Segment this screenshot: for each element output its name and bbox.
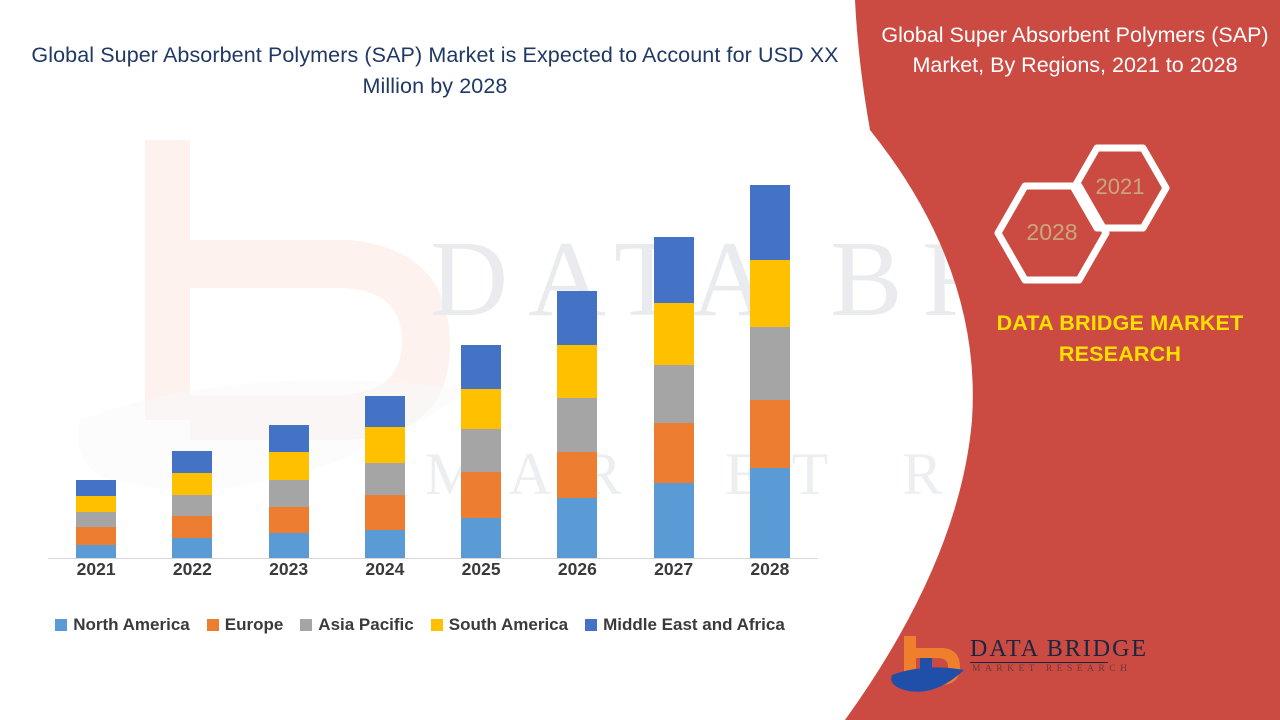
stacked-bar-series-container <box>48 150 818 559</box>
chart-legend: North AmericaEuropeAsia PacificSouth Ame… <box>0 615 840 635</box>
bar-segment <box>76 496 116 512</box>
bar-segment <box>557 345 597 398</box>
legend-swatch-icon <box>431 619 443 631</box>
legend-label: Europe <box>225 615 284 635</box>
logo-wordmark: DATA BRIDGE <box>970 636 1148 663</box>
legend-item-south-america[interactable]: South America <box>431 615 568 635</box>
bar-group-2023 <box>241 425 337 558</box>
hex-label-end-year: 2028 <box>1002 219 1102 246</box>
bar-segment <box>557 452 597 498</box>
legend-swatch-icon <box>585 619 597 631</box>
bar-segment <box>461 345 501 389</box>
stacked-bar <box>365 396 405 558</box>
bar-group-2024 <box>337 396 433 558</box>
bar-segment <box>654 365 694 423</box>
hexagon-pair: 2021 2028 <box>975 140 1205 290</box>
panel-title: Global Super Absorbent Polymers (SAP) Ma… <box>880 20 1270 80</box>
bar-segment <box>461 389 501 429</box>
legend-swatch-icon <box>55 619 67 631</box>
bar-segment <box>269 452 309 480</box>
hex-label-start-year: 2021 <box>1070 174 1170 200</box>
chart-title: Global Super Absorbent Polymers (SAP) Ma… <box>30 40 840 102</box>
bar-segment <box>172 495 212 516</box>
legend-item-north-america[interactable]: North America <box>55 615 190 635</box>
bar-segment <box>461 518 501 558</box>
bar-segment <box>76 512 116 527</box>
right-brand-panel: Global Super Absorbent Polymers (SAP) Ma… <box>760 0 1280 720</box>
legend-label: Middle East and Africa <box>603 615 785 635</box>
bar-segment <box>365 396 405 427</box>
stacked-bar <box>654 237 694 558</box>
bar-segment <box>365 530 405 558</box>
bar-group-2026 <box>529 291 625 558</box>
legend-item-middle-east-and-africa[interactable]: Middle East and Africa <box>585 615 785 635</box>
legend-swatch-icon <box>300 619 312 631</box>
bar-segment <box>461 429 501 472</box>
logo-tagline: MARKET RESEARCH <box>972 664 1131 674</box>
hexagon-outlines-icon <box>975 140 1205 290</box>
bar-segment <box>269 507 309 533</box>
data-bridge-logo: DATA BRIDGE MARKET RESEARCH <box>890 630 1120 700</box>
bar-segment <box>654 423 694 483</box>
bar-segment <box>365 495 405 530</box>
brand-name-text: DATA BRIDGE MARKET RESEARCH <box>960 308 1280 370</box>
legend-swatch-icon <box>207 619 219 631</box>
bar-segment <box>76 545 116 558</box>
slide-canvas: DATA BRIDGE MARKET RESEARCH Global Super… <box>0 0 1280 720</box>
x-tick-2022: 2022 <box>144 559 240 580</box>
stacked-bar <box>172 451 212 558</box>
legend-item-asia-pacific[interactable]: Asia Pacific <box>300 615 413 635</box>
legend-item-europe[interactable]: Europe <box>207 615 284 635</box>
bar-group-2022 <box>144 451 240 558</box>
bar-segment <box>557 291 597 345</box>
stacked-bar <box>461 345 501 558</box>
bar-segment <box>172 451 212 473</box>
bar-segment <box>172 516 212 538</box>
stacked-bar <box>557 291 597 558</box>
x-tick-2024: 2024 <box>337 559 433 580</box>
legend-label: Asia Pacific <box>318 615 413 635</box>
stacked-bar <box>76 480 116 558</box>
bar-segment <box>172 538 212 558</box>
x-tick-2023: 2023 <box>241 559 337 580</box>
bar-segment <box>365 463 405 495</box>
bar-segment <box>557 398 597 452</box>
bar-segment <box>269 533 309 558</box>
bar-segment <box>365 427 405 463</box>
x-tick-2026: 2026 <box>529 559 625 580</box>
x-tick-2025: 2025 <box>433 559 529 580</box>
bar-segment <box>269 425 309 452</box>
legend-label: North America <box>73 615 190 635</box>
bar-group-2021 <box>48 480 144 558</box>
bar-segment <box>76 480 116 496</box>
bar-segment <box>654 237 694 303</box>
bar-segment <box>654 483 694 558</box>
bar-segment <box>172 473 212 495</box>
bar-segment <box>269 480 309 507</box>
stacked-bar <box>269 425 309 558</box>
bar-segment <box>461 472 501 518</box>
bar-group-2027 <box>626 237 722 558</box>
bar-segment <box>76 527 116 545</box>
bar-group-2025 <box>433 345 529 558</box>
legend-label: South America <box>449 615 568 635</box>
x-tick-2021: 2021 <box>48 559 144 580</box>
chart-plot-area: 20212022202320242025202620272028 <box>0 150 840 570</box>
bar-segment <box>557 498 597 558</box>
x-tick-2027: 2027 <box>626 559 722 580</box>
bar-segment <box>654 303 694 365</box>
